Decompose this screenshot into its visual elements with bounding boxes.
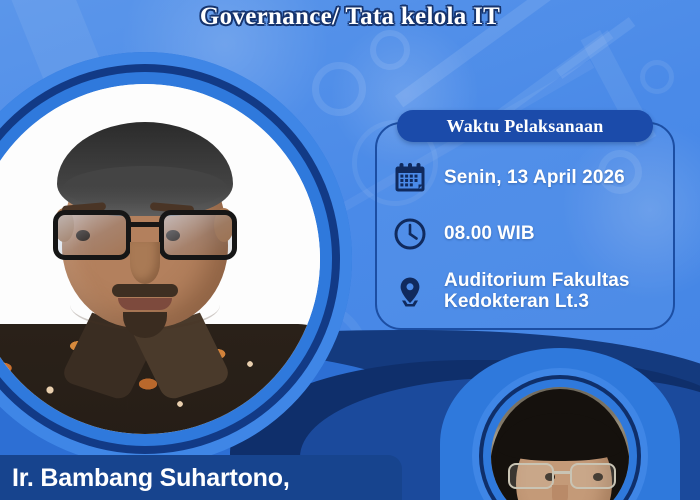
portrait2-photo xyxy=(491,387,629,500)
speaker-portrait-primary xyxy=(0,52,352,466)
speaker-photo-woman xyxy=(491,387,629,500)
clock-icon xyxy=(390,214,430,254)
background-ring xyxy=(312,62,366,116)
schedule-location-text: Auditorium Fakultas Kedokteran Lt.3 xyxy=(444,270,630,313)
page-title: Governance/ Tata kelola IT xyxy=(200,3,500,31)
speaker-name-bar: Ir. Bambang Suhartono, xyxy=(0,455,402,500)
background-ring xyxy=(640,60,674,94)
schedule-rows: Senin, 13 April 2026 08.00 WIB Audit xyxy=(390,158,680,329)
schedule-panel-heading: Waktu Pelaksanaan xyxy=(397,110,653,142)
speaker-photo-man xyxy=(0,84,320,434)
poster-title-bar: Governance/ Tata kelola IT xyxy=(0,0,700,34)
schedule-row-location: Auditorium Fakultas Kedokteran Lt.3 xyxy=(390,270,680,313)
schedule-date-text: Senin, 13 April 2026 xyxy=(444,167,625,188)
schedule-time-text: 08.00 WIB xyxy=(444,223,535,244)
schedule-panel-heading-label: Waktu Pelaksanaan xyxy=(447,116,604,137)
schedule-row-time: 08.00 WIB xyxy=(390,214,680,254)
location-pin-icon xyxy=(390,272,430,312)
speaker-name: Ir. Bambang Suhartono, xyxy=(12,464,290,493)
calendar-icon xyxy=(390,158,430,198)
schedule-row-date: Senin, 13 April 2026 xyxy=(390,158,680,198)
portrait-photo xyxy=(0,84,320,434)
webinar-poster: Governance/ Tata kelola IT xyxy=(0,0,700,500)
background-ring xyxy=(370,30,410,70)
speaker-portrait-secondary xyxy=(472,368,648,500)
